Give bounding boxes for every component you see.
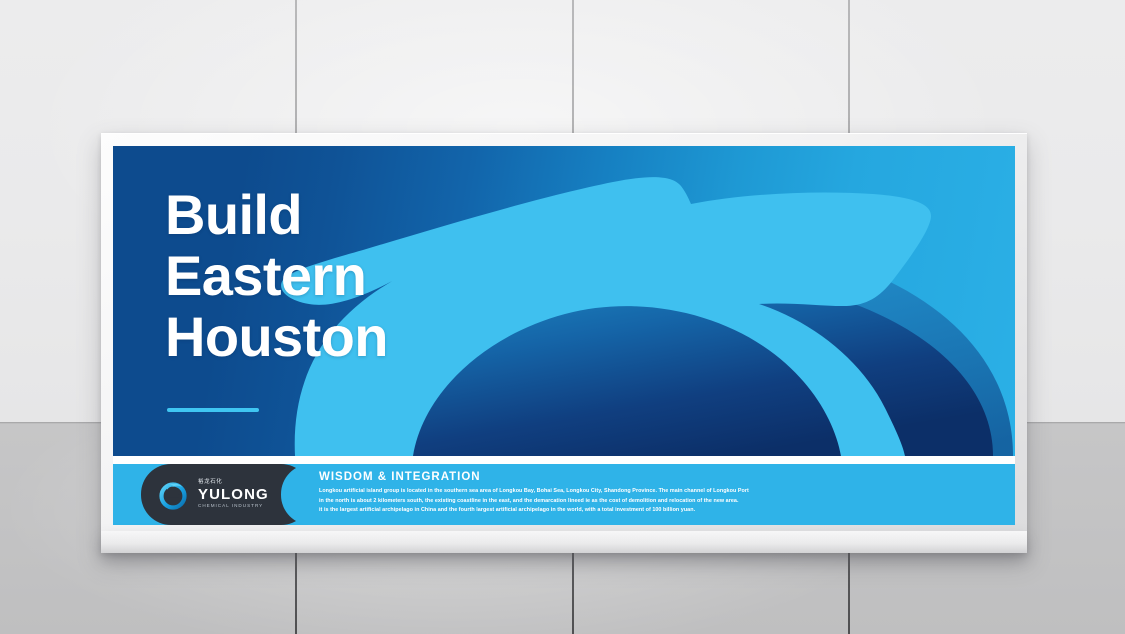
- billboard-scene: Build Eastern Houston: [0, 0, 1125, 634]
- headline-line-1: Build: [165, 184, 388, 245]
- info-text-panel: WISDOM & INTEGRATION Longkou artificial …: [281, 464, 1015, 525]
- info-body-line-3: it is the largest artificial archipelago…: [319, 506, 949, 516]
- poster-headline: Build Eastern Houston: [165, 184, 388, 367]
- picture-frame: Build Eastern Houston: [101, 133, 1027, 553]
- info-body-line-1: Longkou artificial island group is locat…: [319, 487, 949, 497]
- headline-accent-rule: [167, 408, 259, 412]
- brand-name: YULONG: [198, 487, 269, 502]
- headline-line-2: Eastern: [165, 245, 388, 306]
- yulong-circle-emblem: [157, 479, 189, 511]
- poster-info-bar: 裕龙石化 YULONG CHEMICAL INDUSTRY WISDOM & I…: [113, 464, 1015, 525]
- frame-mat: Build Eastern Houston: [113, 146, 1015, 525]
- info-body: Longkou artificial island group is locat…: [319, 487, 949, 516]
- info-title: WISDOM & INTEGRATION: [319, 471, 1015, 483]
- brand-subtitle: CHEMICAL INDUSTRY: [198, 504, 269, 509]
- headline-line-3: Houston: [165, 306, 388, 367]
- frame-bottom-rail: [101, 531, 1027, 553]
- info-body-line-2: in the north is about 2 kilometers south…: [319, 497, 949, 507]
- poster-artwork: Build Eastern Houston: [113, 146, 1015, 456]
- brand-logo-text: 裕龙石化 YULONG CHEMICAL INDUSTRY: [198, 480, 269, 508]
